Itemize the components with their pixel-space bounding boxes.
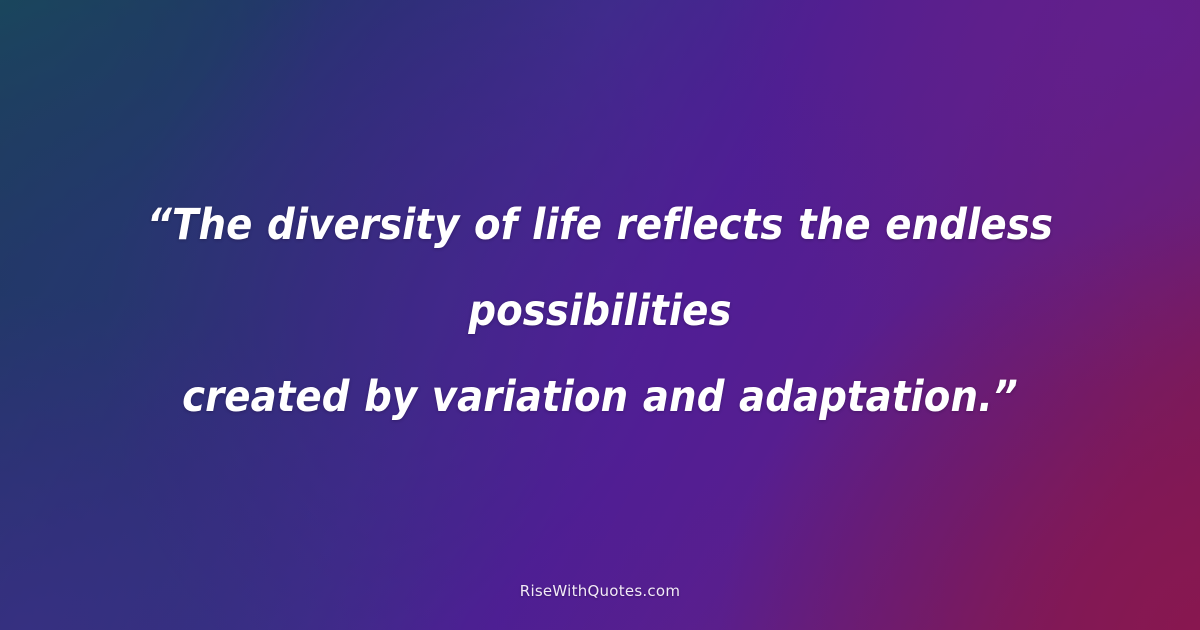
footer: RiseWithQuotes.com [0, 581, 1200, 600]
card-content: “The diversity of life reflects the endl… [0, 0, 1200, 630]
quote-block: “The diversity of life reflects the endl… [0, 182, 1200, 440]
quote-card: “The diversity of life reflects the endl… [0, 0, 1200, 630]
site-credit: RiseWithQuotes.com [520, 582, 680, 600]
quote-text: “The diversity of life reflects the endl… [108, 182, 1092, 440]
